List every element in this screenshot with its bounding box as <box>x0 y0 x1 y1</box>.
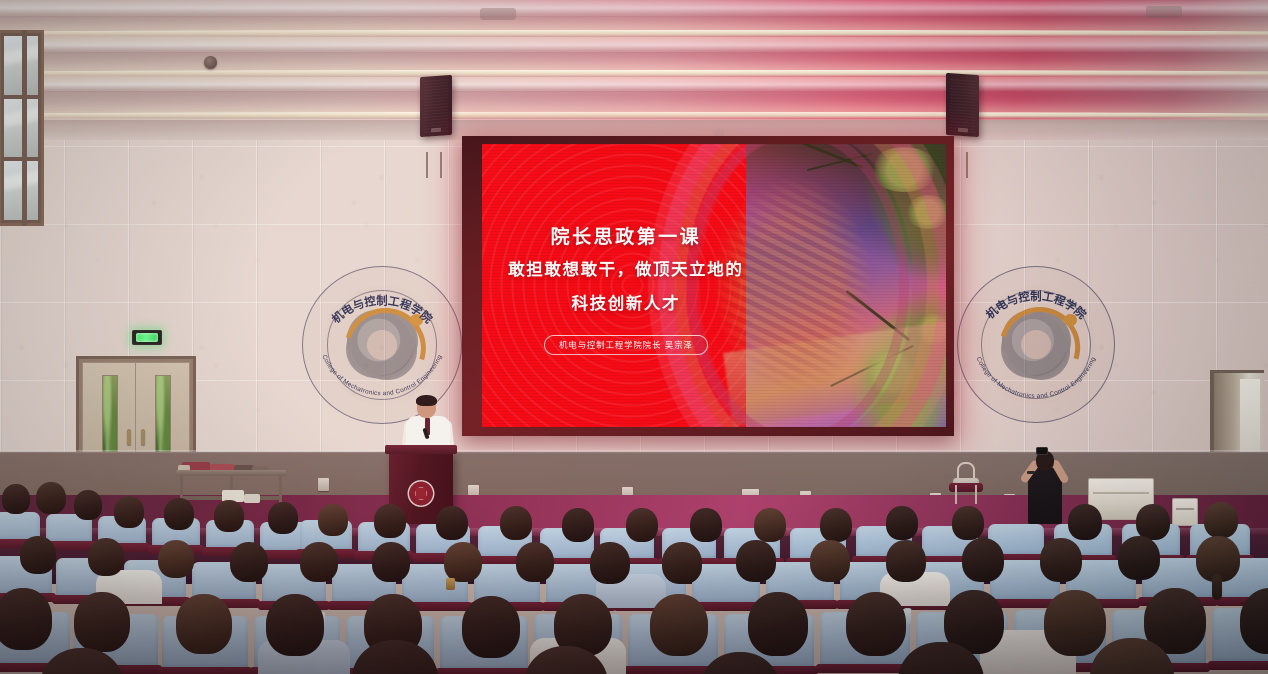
audience-head <box>562 508 594 542</box>
slide-title: 院长思政第一课 <box>551 222 702 249</box>
audience-head <box>820 508 852 542</box>
audience-head <box>650 594 708 656</box>
audience-head <box>230 542 268 582</box>
audience-head <box>736 540 776 582</box>
audience-head <box>158 540 194 578</box>
audience-head <box>372 542 410 582</box>
ceiling-speaker-left <box>420 75 452 137</box>
audience-head <box>1040 538 1082 582</box>
audience-head <box>846 592 906 656</box>
audience-head <box>36 482 66 514</box>
audience-head <box>74 592 130 652</box>
ceiling-light-strip <box>0 30 1268 37</box>
slide-line-1: 敢担敢想敢干，做顶天立地的 <box>508 258 743 283</box>
speaker-wire <box>426 152 428 178</box>
audience-head <box>0 588 52 650</box>
audience-head <box>748 592 808 656</box>
audience-head <box>88 538 124 576</box>
audience-head <box>444 542 482 582</box>
audience-head <box>1068 504 1102 540</box>
led-screen-bezel: 院长思政第一课 敢担敢想敢干，做顶天立地的 科技创新人才 机电与控制工程学院院长… <box>462 136 954 436</box>
audience-head <box>1118 536 1160 580</box>
ceiling-light-strip <box>0 112 1268 119</box>
audience-area <box>0 470 1268 674</box>
audience-head <box>590 542 630 584</box>
audience-head <box>754 508 786 542</box>
ceiling-vent <box>480 8 516 20</box>
running-man-icon <box>136 333 158 342</box>
ceiling-speaker-right <box>946 73 979 137</box>
smoke-detector-icon <box>204 56 217 69</box>
audience-head <box>810 540 850 582</box>
ceiling-light-strip <box>0 70 1268 77</box>
audience-head <box>300 542 338 582</box>
audience-head <box>20 536 56 574</box>
audience-head <box>374 504 406 538</box>
audience-head <box>1044 590 1106 656</box>
audience-head <box>516 542 554 582</box>
audience-head <box>164 498 194 530</box>
slide-line-2: 科技创新人才 <box>572 292 681 317</box>
door-handle[interactable] <box>141 429 145 445</box>
audience-head <box>962 538 1004 582</box>
audience-head <box>500 506 532 540</box>
audience-head <box>2 484 30 514</box>
phone-icon <box>1036 447 1048 455</box>
emblem-english-text: College of Mechatronics and Control Engi… <box>320 354 444 398</box>
audience-head <box>690 508 722 542</box>
college-emblem-right: 机电与控制工程学院 College of Mechatronics and Co… <box>957 266 1115 423</box>
emblem-chinese-text: 机电与控制工程学院 <box>329 293 436 326</box>
door-handle[interactable] <box>127 429 131 445</box>
emblem-chinese-text: 机电与控制工程学院 <box>983 289 1090 322</box>
audience-head <box>114 496 144 528</box>
audience-head <box>266 594 324 656</box>
speaker-wire <box>440 152 442 178</box>
audience-head <box>268 502 298 534</box>
audience-head <box>462 596 520 658</box>
slide-text-block: 院长思政第一课 敢担敢想敢干，做顶天立地的 科技创新人才 机电与控制工程学院院长… <box>482 144 770 427</box>
emblem-text: 机电与控制工程学院 College of Mechatronics and Co… <box>958 267 1114 422</box>
audience-head <box>436 506 468 540</box>
presentation-slide: 院长思政第一课 敢担敢想敢干，做顶天立地的 科技创新人才 机电与控制工程学院院长… <box>482 144 946 427</box>
audience-head <box>318 504 348 536</box>
audience-head <box>886 540 926 582</box>
hair-ponytail <box>1212 574 1222 600</box>
speaker-wire <box>966 152 968 178</box>
audience-head <box>626 508 658 542</box>
exit-sign <box>132 330 162 345</box>
hair-clip <box>446 578 455 590</box>
audience-head <box>74 490 102 520</box>
audience-head <box>1204 502 1238 538</box>
window-mullion <box>22 30 27 226</box>
slide-subtitle-pill: 机电与控制工程学院院长 吴宗泽 <box>544 335 708 355</box>
ceiling-vent <box>1146 6 1182 18</box>
audience-head <box>176 594 232 654</box>
audience-head <box>662 542 702 584</box>
audience-head <box>1136 504 1170 540</box>
emblem-english-text: College of Mechatronics and Control Engi… <box>975 356 1098 400</box>
audience-head <box>952 506 984 540</box>
audience-head <box>214 500 244 532</box>
audience-head <box>886 506 918 540</box>
auditorium-photo: 机电与控制工程学院 College of Mechatronics and Co… <box>0 0 1268 674</box>
